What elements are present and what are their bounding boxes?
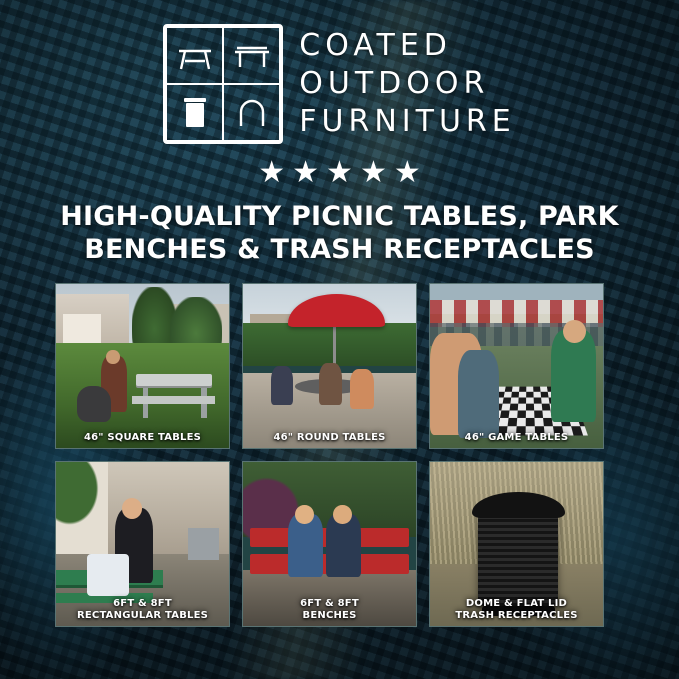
arch-bench-icon <box>223 84 280 141</box>
product-tile-benches: 6FT & 8FT BENCHES <box>242 461 417 627</box>
logo-line-1: COATED <box>299 28 515 64</box>
photo-square-tables <box>56 284 229 448</box>
tile-caption-line-2: TRASH RECEPTACLES <box>433 610 600 622</box>
product-tile-rectangular-tables: 6FT & 8FT RECTANGULAR TABLES <box>55 461 230 627</box>
tile-caption: 6FT & 8FT RECTANGULAR TABLES <box>56 594 229 626</box>
trash-receptacle-icon <box>166 84 223 141</box>
tile-caption-line-2: BENCHES <box>246 610 413 622</box>
logo-wordmark: COATED OUTDOOR FURNITURE <box>299 28 515 140</box>
product-tile-square-tables: 46" SQUARE TABLES <box>55 283 230 449</box>
tile-caption-line-1: 6FT & 8FT <box>59 598 226 610</box>
page-title: HIGH-QUALITY PICNIC TABLES, PARK BENCHES… <box>0 200 679 266</box>
photo-round-tables <box>243 284 416 448</box>
tile-caption: 46" GAME TABLES <box>430 428 603 449</box>
tile-caption-line-1: 6FT & 8FT <box>246 598 413 610</box>
tile-caption: 46" ROUND TABLES <box>243 428 416 449</box>
headline-line-1: HIGH-QUALITY PICNIC TABLES, PARK <box>0 200 679 233</box>
product-grid: 46" SQUARE TABLES 46" ROUND TABLES 46" G… <box>55 283 624 627</box>
park-bench-icon <box>223 27 280 84</box>
star-icon: ★ <box>394 158 421 188</box>
tile-caption-line-1: DOME & FLAT LID <box>433 598 600 610</box>
headline-line-2: BENCHES & TRASH RECEPTACLES <box>0 233 679 266</box>
star-rating: ★ ★ ★ ★ ★ <box>0 158 679 188</box>
tile-caption: DOME & FLAT LID TRASH RECEPTACLES <box>430 594 603 626</box>
photo-game-tables <box>430 284 603 448</box>
logo-line-3: FURNITURE <box>299 104 515 140</box>
product-tile-game-tables: 46" GAME TABLES <box>429 283 604 449</box>
product-banner: COATED OUTDOOR FURNITURE ★ ★ ★ ★ ★ HIGH-… <box>0 0 679 679</box>
product-tile-trash-receptacles: DOME & FLAT LID TRASH RECEPTACLES <box>429 461 604 627</box>
tile-caption: 46" SQUARE TABLES <box>56 428 229 449</box>
star-icon: ★ <box>258 158 285 188</box>
brand-logo: COATED OUTDOOR FURNITURE <box>0 24 679 144</box>
star-icon: ★ <box>292 158 319 188</box>
product-tile-round-tables: 46" ROUND TABLES <box>242 283 417 449</box>
logo-line-2: OUTDOOR <box>299 66 515 102</box>
tile-caption: 6FT & 8FT BENCHES <box>243 594 416 626</box>
star-icon: ★ <box>360 158 387 188</box>
picnic-table-icon <box>166 27 223 84</box>
logo-mark <box>163 24 283 144</box>
star-icon: ★ <box>326 158 353 188</box>
tile-caption-line-2: RECTANGULAR TABLES <box>59 610 226 622</box>
